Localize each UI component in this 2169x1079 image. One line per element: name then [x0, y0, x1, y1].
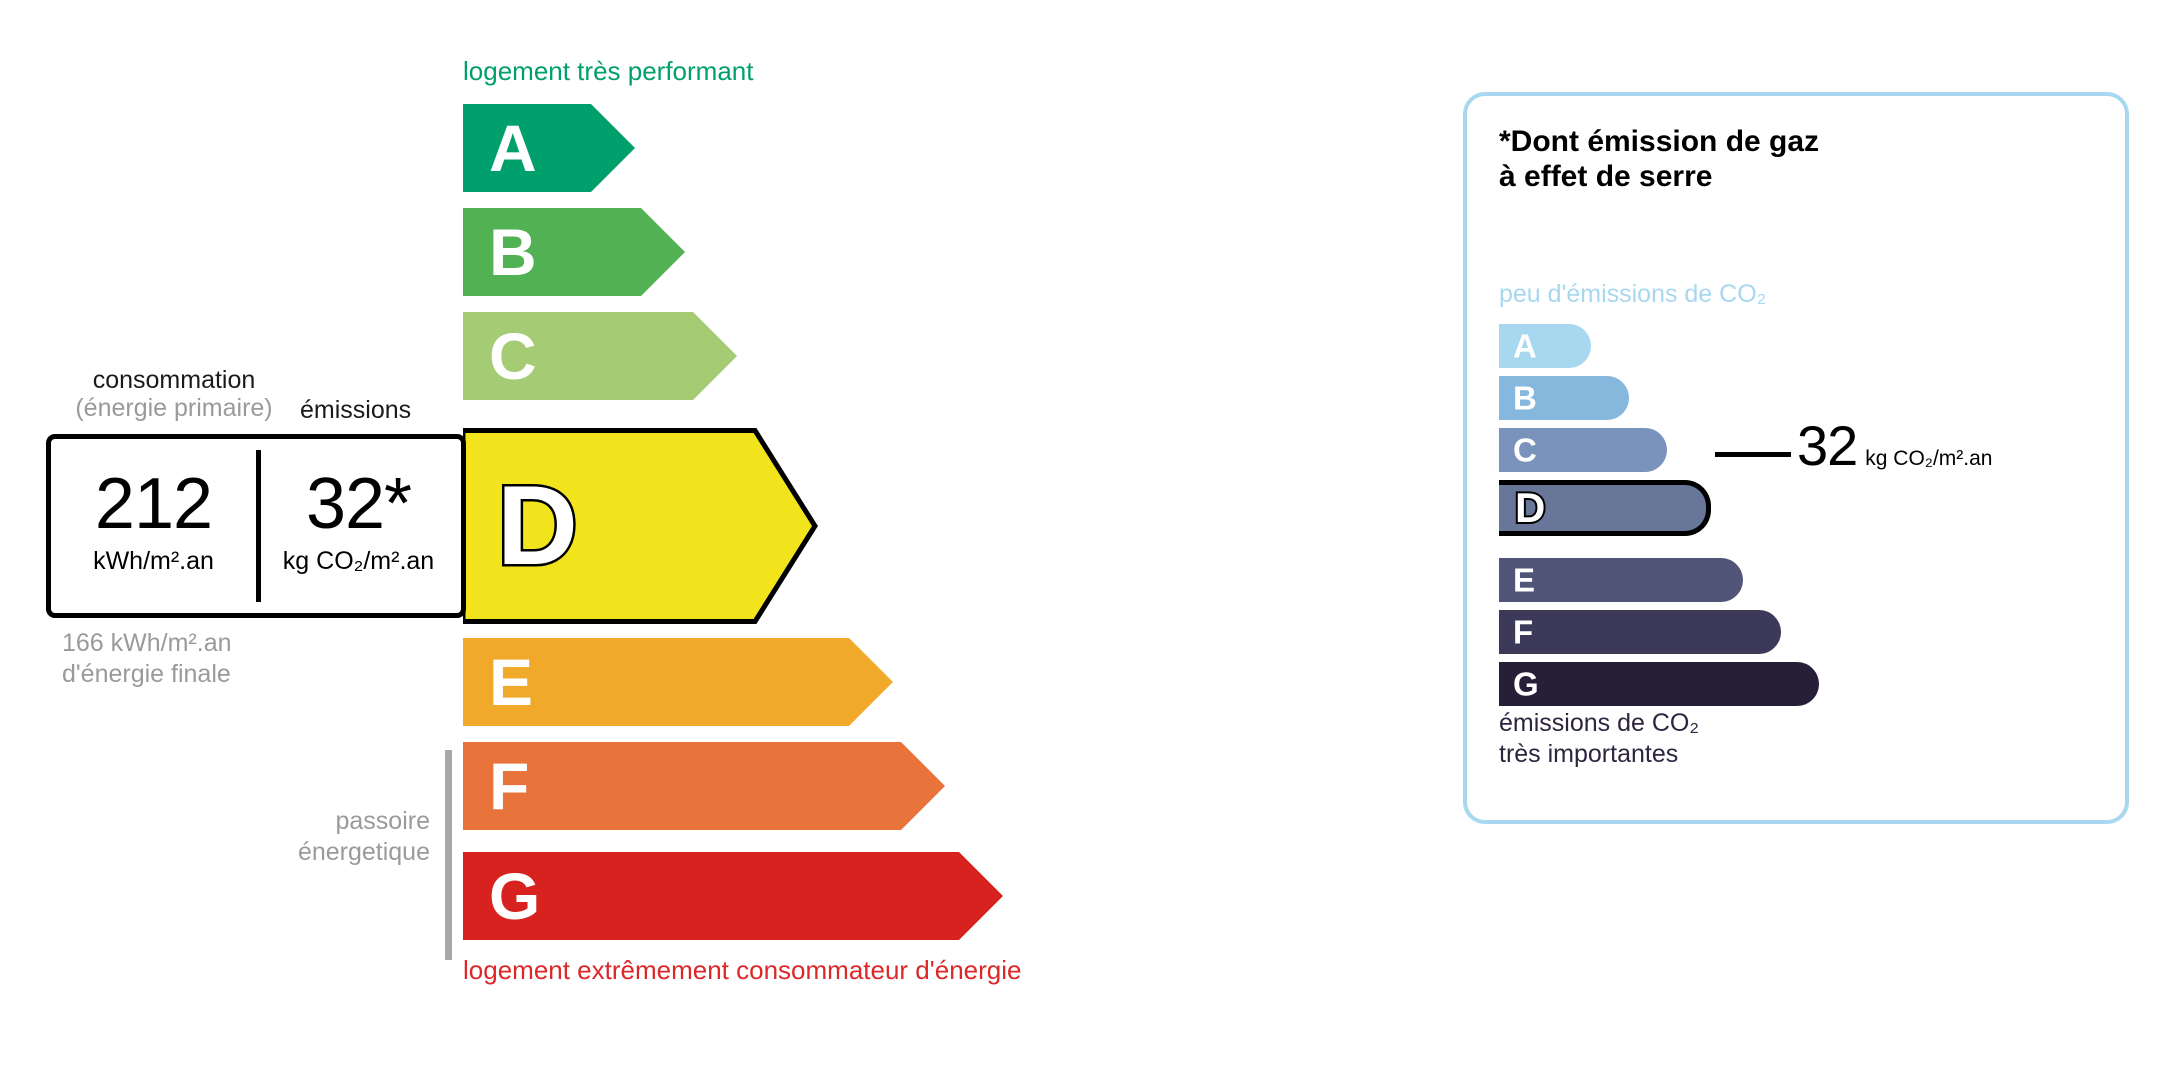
co2-class-letter-c: C [1513, 434, 1537, 467]
co2-class-letter-f: F [1513, 616, 1533, 649]
co2-bar-b: B [1499, 376, 1629, 420]
co2-class-letter-d: D [1515, 487, 1545, 529]
co2-bar-c: C [1499, 428, 1667, 472]
co2-emissions-cell: 32* kg CO₂/m².an [256, 439, 461, 613]
energy-bar-tip-f [901, 742, 945, 830]
co2-callout-leader-line [1715, 452, 1791, 457]
co2-bar-g: G [1499, 662, 1819, 706]
co2-bar-e: E [1499, 558, 1743, 602]
co2-callout-value: 32 [1797, 418, 1857, 474]
co2-emissions-panel: *Dont émission de gaz à effet de serre p… [1463, 92, 2129, 824]
chart-caption-bottom: logement extrêmement consommateur d'éner… [463, 955, 1021, 986]
primary-energy-value: 212 [95, 470, 212, 538]
co2-class-letter-b: B [1513, 382, 1537, 415]
passoire-energetique-label: passoire énergetique [130, 806, 430, 867]
primary-energy-cell: 212 kWh/m².an [51, 439, 256, 613]
co2-caption-top: peu d'émissions de CO₂ [1499, 280, 1766, 309]
co2-bar-a: A [1499, 324, 1591, 368]
co2-class-row-a[interactable]: A [1499, 324, 1591, 368]
energy-bar-tip-g [959, 852, 1003, 940]
passoire-bracket [445, 750, 452, 960]
label-emissions: émissions [300, 396, 411, 425]
co2-class-row-b[interactable]: B [1499, 376, 1629, 420]
co2-bar-d: D [1499, 480, 1711, 536]
energy-class-letter-c: C [489, 323, 537, 389]
energy-bar-tip-c [693, 312, 737, 400]
energy-bar-tip-a [591, 104, 635, 192]
co2-callout: 32 kg CO₂/m².an [1797, 418, 1992, 474]
label-energie-primaire: (énergie primaire) [62, 394, 286, 422]
energy-class-letter-f: F [489, 753, 529, 819]
co2-class-row-g[interactable]: G [1499, 662, 1819, 706]
label-consommation: consommation (énergie primaire) [62, 366, 286, 422]
co2-title-line1: *Dont émission de gaz [1499, 124, 1819, 159]
chart-caption-top: logement très performant [463, 56, 753, 87]
co2-panel-title: *Dont émission de gaz à effet de serre [1499, 124, 1819, 195]
co2-title-line2: à effet de serre [1499, 159, 1819, 194]
passoire-line1: passoire [130, 806, 430, 837]
co2-class-row-f[interactable]: F [1499, 610, 1781, 654]
co2-caption-bottom: émissions de CO₂ très importantes [1499, 708, 1699, 769]
primary-energy-unit: kWh/m².an [93, 547, 214, 576]
co2-class-row-e[interactable]: E [1499, 558, 1743, 602]
co2-class-letter-e: E [1513, 564, 1535, 597]
energy-class-letter-d: D [497, 470, 578, 582]
energy-bar-tip-e [849, 638, 893, 726]
final-energy-note: 166 kWh/m².an d'énergie finale [62, 628, 232, 689]
co2-emissions-value: 32* [306, 470, 411, 538]
co2-caption-bottom-line1: émissions de CO₂ [1499, 708, 1699, 739]
co2-callout-unit: kg CO₂/m².an [1865, 447, 1992, 471]
co2-class-row-c[interactable]: C [1499, 428, 1667, 472]
final-energy-line2: d'énergie finale [62, 659, 232, 690]
energy-bar-tip-b [641, 208, 685, 296]
energy-class-letter-b: B [489, 219, 537, 285]
co2-emissions-unit: kg CO₂/m².an [283, 547, 434, 576]
value-box: 212 kWh/m².an 32* kg CO₂/m².an [46, 434, 466, 618]
co2-class-letter-a: A [1513, 330, 1537, 363]
co2-class-row-d[interactable]: D [1499, 486, 1711, 530]
energy-performance-chart: logement très performant A B C D [0, 0, 1400, 1079]
final-energy-line1: 166 kWh/m².an [62, 628, 232, 659]
energy-class-letter-g: G [489, 863, 540, 929]
co2-class-letter-g: G [1513, 668, 1539, 701]
co2-bar-f: F [1499, 610, 1781, 654]
co2-caption-bottom-line2: très importantes [1499, 739, 1699, 770]
energy-class-letter-e: E [489, 649, 533, 715]
label-consommation-main: consommation [93, 366, 256, 394]
passoire-line2: énergetique [130, 837, 430, 868]
energy-class-letter-a: A [489, 115, 537, 181]
